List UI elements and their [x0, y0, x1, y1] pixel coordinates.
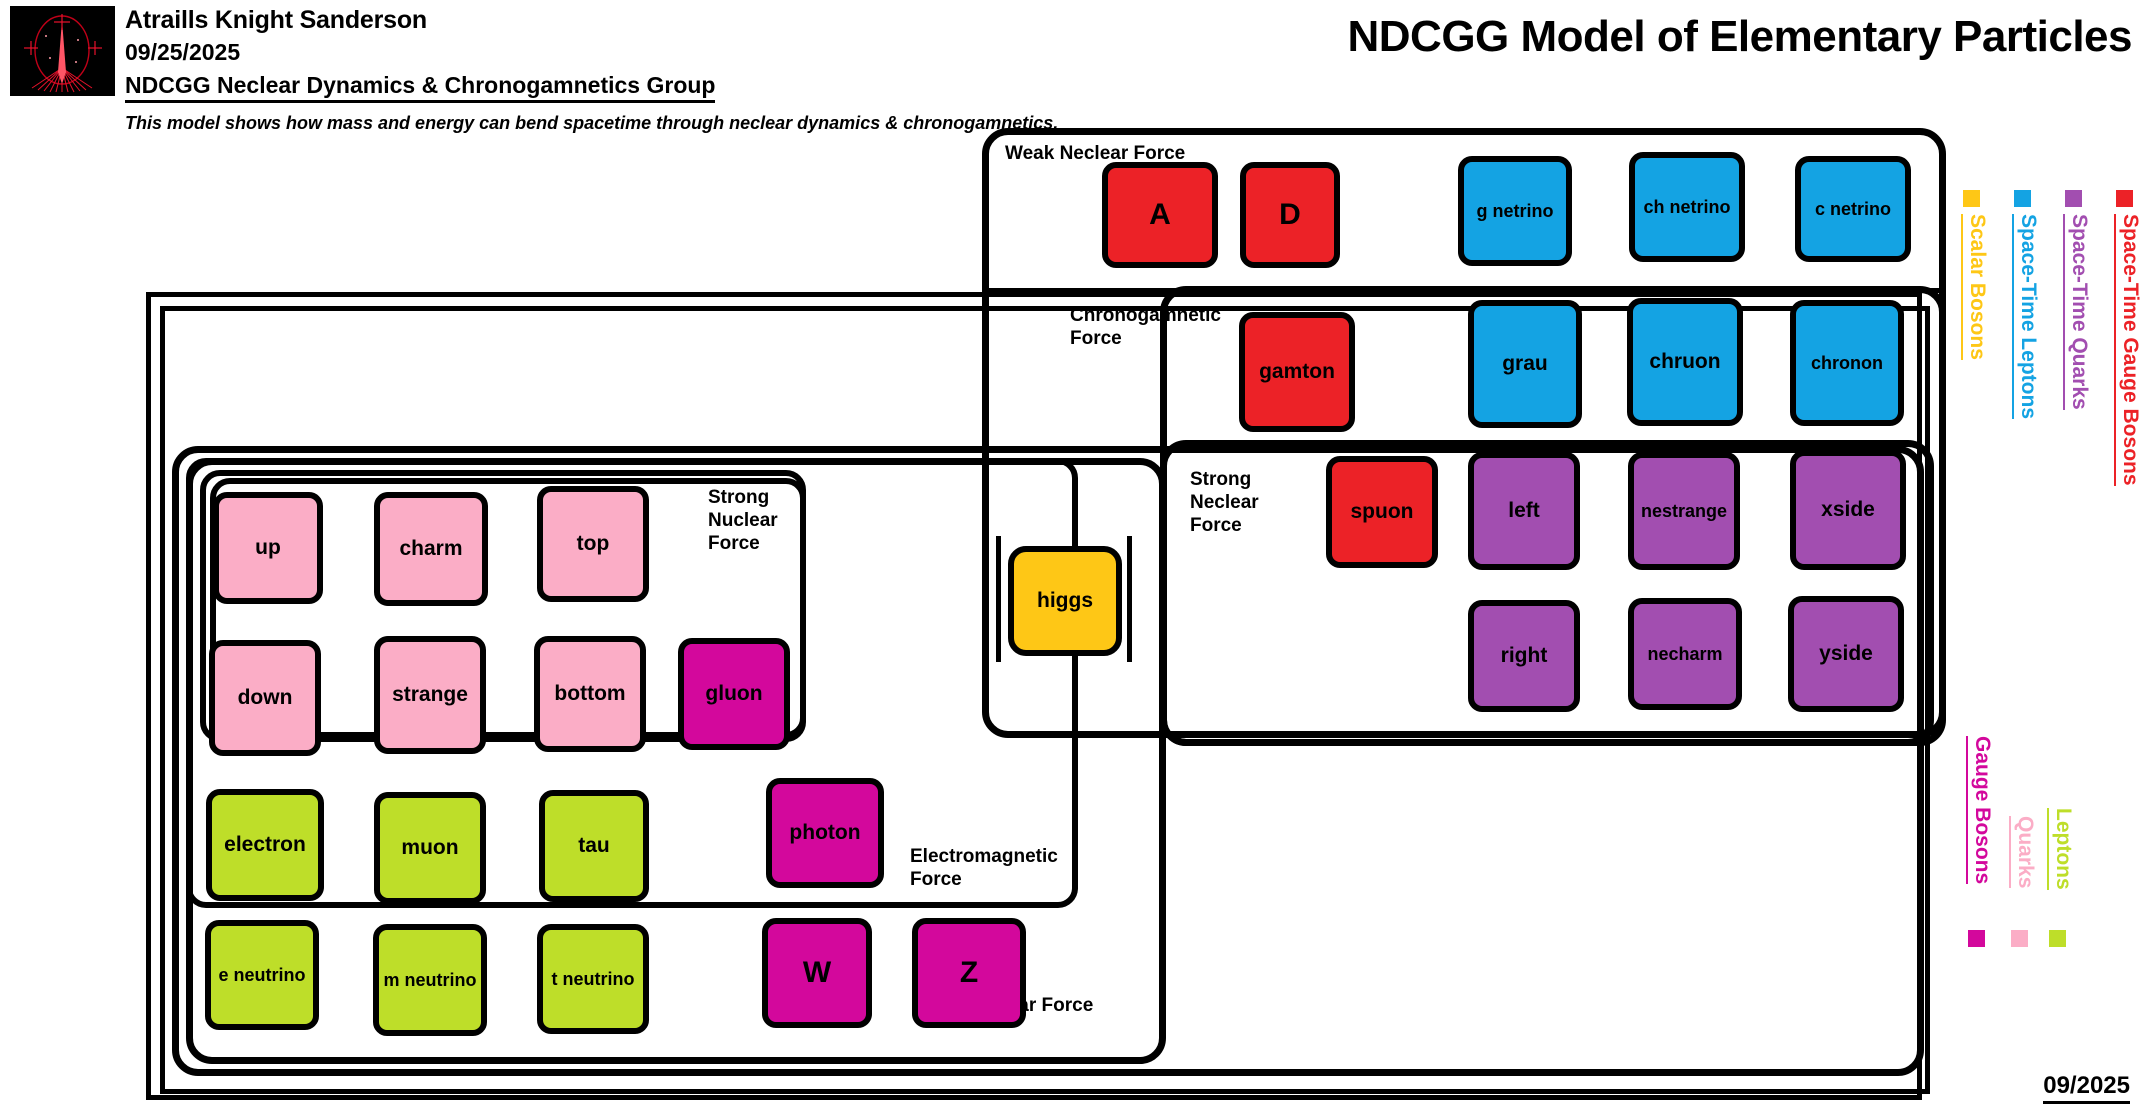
particle-d[interactable]: D	[1240, 162, 1340, 268]
particle-photon[interactable]: photon	[766, 778, 884, 888]
page-title: NDCGG Model of Elementary Particles	[1348, 12, 2133, 62]
footer-date: 09/2025	[2043, 1072, 2130, 1104]
particle-ch-netrino[interactable]: ch netrino	[1629, 152, 1745, 262]
particle-top[interactable]: top	[537, 486, 649, 602]
particle-spuon[interactable]: spuon	[1326, 456, 1438, 568]
particle-chruon[interactable]: chruon	[1627, 298, 1743, 426]
author-name: Atraills Knight Sanderson	[125, 6, 427, 35]
legend-swatch-quarks	[2011, 930, 2028, 947]
legend-swatch-space-time-quarks	[2065, 190, 2082, 207]
particle-c-netrino[interactable]: c netrino	[1795, 156, 1911, 262]
legend-swatch-gauge-bosons	[1968, 930, 1985, 947]
particle-e-neutrino[interactable]: e neutrino	[205, 920, 319, 1030]
legend-space-time-leptons: Space-Time Leptons	[2012, 214, 2040, 419]
particle-yside[interactable]: yside	[1788, 596, 1904, 712]
particle-grau[interactable]: grau	[1468, 300, 1582, 428]
legend-swatch-space-time-leptons	[2014, 190, 2031, 207]
particle-m-neutrino[interactable]: m neutrino	[373, 924, 487, 1036]
particle-z[interactable]: Z	[912, 918, 1026, 1028]
particle-gluon[interactable]: gluon	[678, 638, 790, 750]
label-strong-nuclear-force-left: Strong Nuclear Force	[708, 486, 778, 556]
particle-right[interactable]: right	[1468, 600, 1580, 712]
legend-swatch-space-time-gauge-bosons	[2116, 190, 2133, 207]
particle-bottom[interactable]: bottom	[534, 636, 646, 752]
particle-chronon[interactable]: chronon	[1790, 300, 1904, 426]
particle-left[interactable]: left	[1468, 452, 1580, 570]
particle-necharm[interactable]: necharm	[1628, 598, 1742, 710]
legend-swatch-leptons	[2049, 930, 2066, 947]
label-chronogamnetic-force: Chronogamnetic Force	[1070, 304, 1221, 350]
particle-charm[interactable]: charm	[374, 492, 488, 606]
legend-quarks: Quarks	[2009, 816, 2037, 888]
particle-tau[interactable]: tau	[539, 790, 649, 902]
legend-scalar-bosons: Scalar Bosons	[1961, 214, 1989, 360]
particle-higgs[interactable]: higgs	[1008, 546, 1122, 656]
legend-space-time-quarks: Space-Time Quarks	[2063, 214, 2091, 410]
particle-gamton[interactable]: gamton	[1239, 312, 1355, 432]
particle-electron[interactable]: electron	[206, 789, 324, 901]
document-date: 09/25/2025	[125, 39, 240, 66]
label-electromagnetic-force: Electromagnetic Force	[910, 845, 1058, 891]
red-spark-logo-icon	[10, 6, 115, 96]
particle-w[interactable]: W	[762, 918, 872, 1028]
particle-xside[interactable]: xside	[1790, 450, 1906, 570]
particle-strange[interactable]: strange	[374, 636, 486, 754]
particle-muon[interactable]: muon	[374, 792, 486, 904]
particle-down[interactable]: down	[209, 640, 321, 756]
particle-t-neutrino[interactable]: t neutrino	[537, 924, 649, 1034]
legend-leptons: Leptons	[2047, 808, 2075, 890]
particle-nestrange[interactable]: nestrange	[1628, 452, 1740, 570]
legend-space-time-gauge-bosons: Space-Time Gauge Bosons	[2114, 214, 2142, 486]
particle-g-netrino[interactable]: g netrino	[1458, 156, 1572, 266]
particle-a[interactable]: A	[1102, 162, 1218, 268]
model-description: This model shows how mass and energy can…	[125, 112, 1058, 135]
label-strong-neclear-force-right: Strong Neclear Force	[1190, 468, 1259, 538]
particle-up[interactable]: up	[213, 492, 323, 604]
ndcgg-logo	[10, 6, 115, 96]
legend-swatch-scalar-bosons	[1963, 190, 1980, 207]
legend-gauge-bosons: Gauge Bosons	[1966, 736, 1994, 884]
group-name: NDCGG Neclear Dynamics & Chronogamnetics…	[125, 72, 715, 103]
